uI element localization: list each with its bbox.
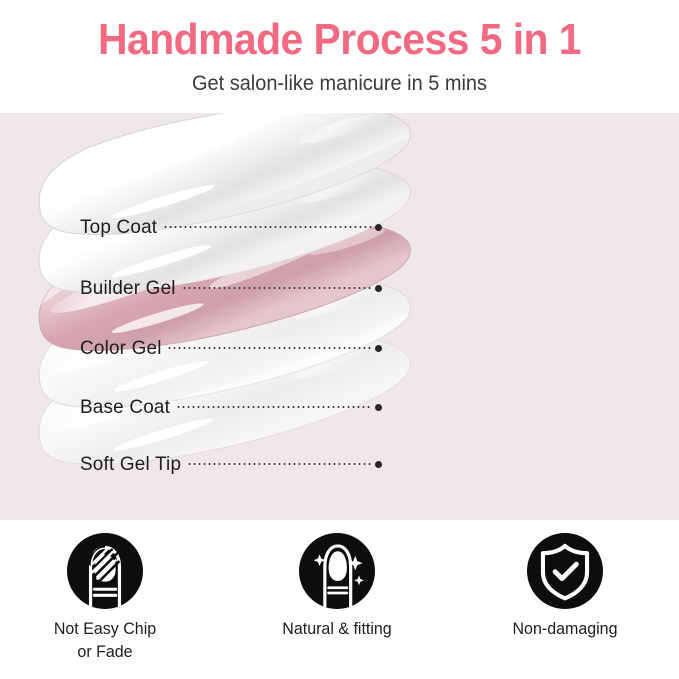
layer-label-text: Base Coat [80,396,170,419]
leader-endpoint-dot [375,404,382,411]
layer-label-soft-gel-tip: Soft Gel Tip [80,451,382,477]
leader-endpoint-dot [375,285,382,292]
leader-endpoint-dot [375,461,382,468]
feature-label: Not Easy Chip or Fade [0,618,215,664]
layer-label-text: Soft Gel Tip [80,453,181,476]
feature-not-easy-chip: Not Easy Chip or Fade [0,520,218,679]
leader-endpoint-dot [375,345,382,352]
shield-check-icon [527,533,603,609]
leader-endpoint-dot [375,224,382,231]
layer-label-top-coat: Top Coat [80,214,382,240]
feature-label: Non-damaging [455,618,674,641]
leader-line [167,347,372,349]
layer-label-text: Color Gel [80,337,162,360]
feature-non-damaging: Non-damaging [452,520,678,679]
layer-label-list: Top Coat Builder Gel Color Gel Base Coat… [0,113,679,520]
feature-natural-fitting: Natural & fitting [224,520,450,679]
sparkle-nail-icon [299,533,375,609]
layer-label-text: Top Coat [80,216,157,239]
leader-line [187,463,372,465]
page-subtitle: Get salon-like manicure in 5 mins [17,70,662,98]
layer-label-color-gel: Color Gel [80,335,382,361]
page-title: Handmade Process 5 in 1 [24,14,655,66]
leader-line [182,287,372,289]
layer-label-base-coat: Base Coat [80,394,382,420]
leader-line [176,406,372,408]
header-band: Handmade Process 5 in 1 Get salon-like m… [0,0,679,113]
leader-line [163,226,372,228]
layer-label-text: Builder Gel [80,277,176,300]
layer-label-builder-gel: Builder Gel [80,275,382,301]
infographic-page: Handmade Process 5 in 1 Get salon-like m… [0,0,679,679]
feature-label: Natural & fitting [227,618,446,641]
feature-row: Not Easy Chip or Fade [0,520,679,679]
chipped-nail-icon [67,533,143,609]
